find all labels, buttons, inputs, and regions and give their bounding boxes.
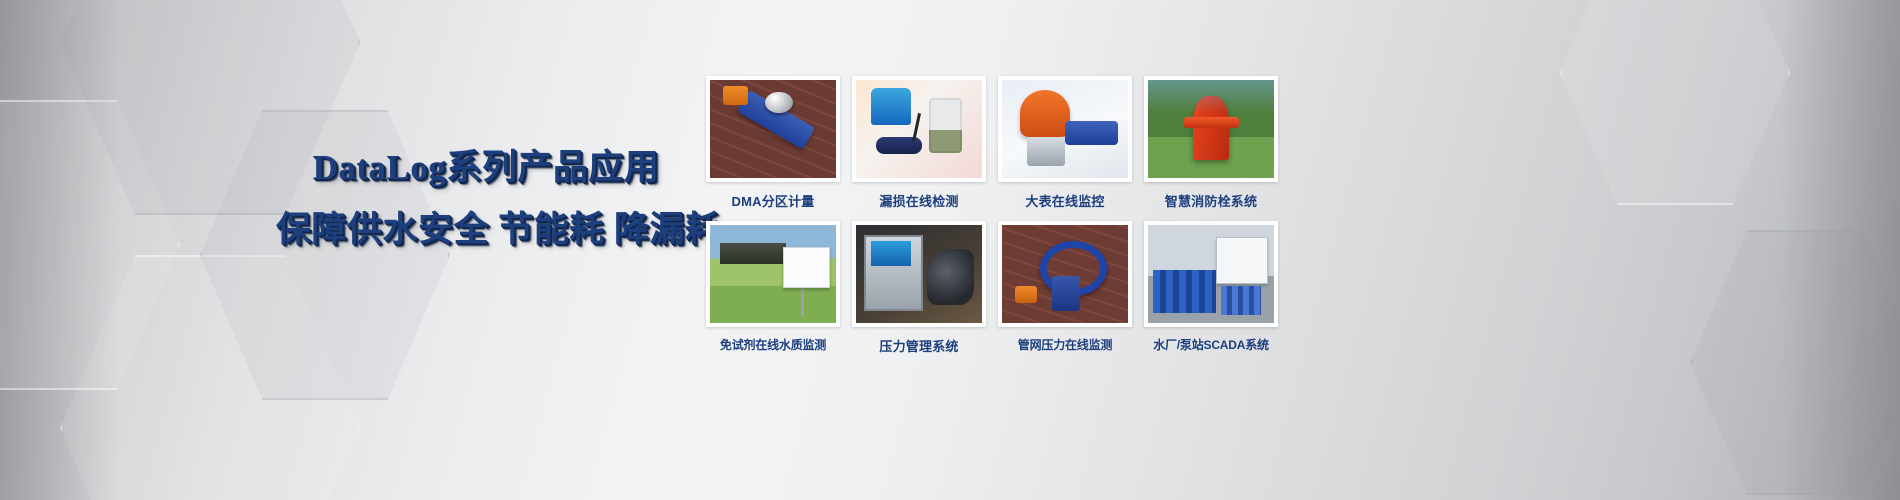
product-caption: 水厂/泵站SCADA系统 [1144, 336, 1278, 353]
product-caption: 免试剂在线水质监测 [706, 336, 840, 353]
headline-line-1: DataLog系列产品应用 [276, 146, 696, 190]
pipe-pressure-valve-photo [1002, 225, 1128, 323]
pressure-cabinet-photo [856, 225, 982, 323]
product-caption: DMA分区计量 [706, 191, 840, 210]
large-meter-photo [1002, 80, 1128, 178]
product-grid: DMA分区计量漏损在线检测大表在线监控智慧消防栓系统免试剂在线水质监测压力管理系… [706, 76, 1280, 361]
product-card[interactable]: DMA分区计量 [706, 76, 840, 216]
left-edge-vignette [0, 0, 120, 500]
product-caption: 压力管理系统 [852, 336, 986, 355]
product-caption: 管网压力在线监测 [998, 336, 1132, 353]
hexagon-watermark-icon [60, 255, 360, 500]
banner-headline: DataLog系列产品应用 保障供水安全 节能耗 降漏耗 [276, 146, 696, 252]
product-thumbnail[interactable] [852, 221, 986, 327]
product-caption: 智慧消防栓系统 [1144, 191, 1278, 210]
hexagon-watermark-icon [1690, 230, 1900, 495]
headline-line-2: 保障供水安全 节能耗 降漏耗 [276, 208, 696, 252]
product-card[interactable]: 漏损在线检测 [852, 76, 986, 216]
product-card[interactable]: 压力管理系统 [852, 221, 986, 361]
leak-logger-photo [856, 80, 982, 178]
promo-banner: DataLog系列产品应用 保障供水安全 节能耗 降漏耗 DMA分区计量漏损在线… [0, 0, 1900, 500]
product-thumbnail[interactable] [998, 76, 1132, 182]
product-thumbnail[interactable] [706, 76, 840, 182]
product-thumbnail[interactable] [998, 221, 1132, 327]
product-caption: 漏损在线检测 [852, 191, 986, 210]
scada-pump-station-photo [1148, 225, 1274, 323]
hexagon-watermark-icon [0, 100, 180, 390]
dma-flow-meter-photo [710, 80, 836, 178]
right-edge-vignette [1780, 0, 1900, 500]
product-card[interactable]: 免试剂在线水质监测 [706, 221, 840, 361]
product-card[interactable]: 智慧消防栓系统 [1144, 76, 1278, 216]
water-quality-station-photo [710, 225, 836, 323]
product-thumbnail[interactable] [1144, 221, 1278, 327]
hexagon-watermark-icon [1560, 0, 1790, 205]
product-thumbnail[interactable] [852, 76, 986, 182]
product-card[interactable]: 管网压力在线监测 [998, 221, 1132, 361]
product-caption: 大表在线监控 [998, 191, 1132, 210]
smart-hydrant-photo [1148, 80, 1274, 178]
product-thumbnail[interactable] [706, 221, 840, 327]
product-card[interactable]: 水厂/泵站SCADA系统 [1144, 221, 1278, 361]
product-thumbnail[interactable] [1144, 76, 1278, 182]
product-card[interactable]: 大表在线监控 [998, 76, 1132, 216]
